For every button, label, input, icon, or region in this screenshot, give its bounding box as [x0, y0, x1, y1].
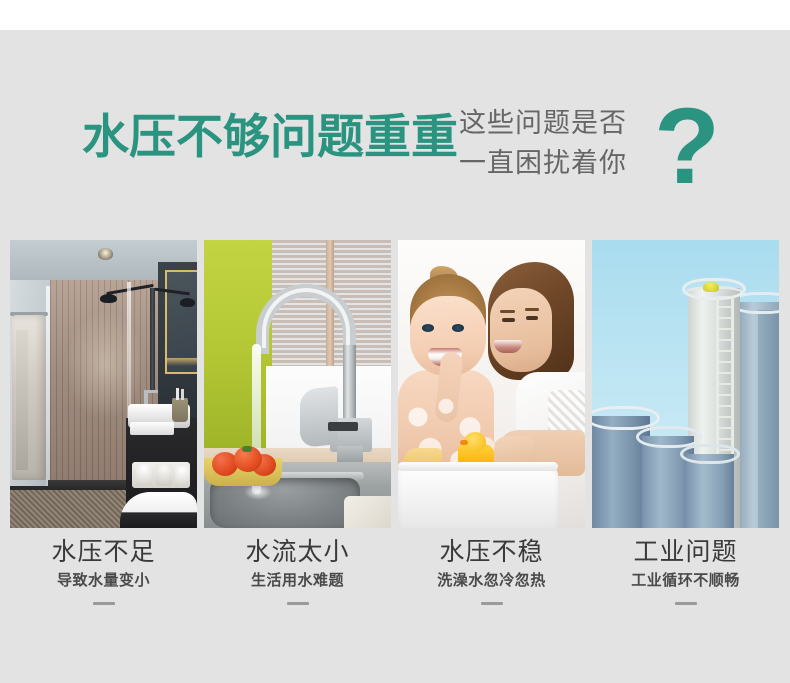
toothbrush-icon [176, 388, 179, 400]
panel-faucet-image[interactable] [204, 240, 391, 528]
caption-divider [93, 602, 115, 605]
safety-helmet-icon [703, 282, 719, 292]
folded-towel [130, 422, 174, 435]
caption-subtitle: 导致水量变小 [10, 569, 197, 593]
faucet-handle-accent [328, 422, 358, 431]
caption-divider [287, 602, 309, 605]
page-headline: 水压不够问题重重 [82, 113, 458, 160]
water-splash [244, 484, 272, 500]
towel-roll [136, 464, 152, 486]
faucet-base [337, 446, 363, 462]
storage-tank-right-edge [758, 310, 779, 528]
header-section: 水压不够问题重重 这些问题是否 一直困扰着你 ? [0, 95, 790, 210]
toothbrush-icon-2 [181, 389, 184, 400]
caption-block-faucet: 水流太小 生活用水难题 [204, 535, 391, 605]
storage-tank [686, 454, 734, 528]
ceiling-lamp-icon [98, 248, 113, 260]
caption-title: 水压不稳 [398, 535, 585, 569]
shower-glass-panel-left [46, 286, 50, 486]
caption-subtitle: 生活用水难题 [204, 569, 391, 593]
faucet-handle [300, 386, 338, 448]
bathtub-edge [120, 492, 197, 528]
mother-eyebrow [500, 310, 515, 313]
shower-head-secondary-icon [180, 298, 195, 307]
caption-divider [675, 602, 697, 605]
mirror-backlight [165, 358, 197, 366]
caption-block-industrial: 工业问题 工业循环不顺畅 [592, 535, 779, 605]
caption-block-baby-bath: 水压不稳 洗澡水忽冷忽热 [398, 535, 585, 605]
rubber-duck-beak [460, 440, 468, 445]
kitchen-faucet-scene [204, 240, 391, 528]
caption-title: 工业问题 [592, 535, 779, 569]
baby-eye [452, 324, 464, 332]
tank-railing [680, 444, 740, 464]
toothbrush-cup [172, 398, 188, 422]
mother-eyebrow [525, 308, 539, 311]
caption-subtitle: 工业循环不顺畅 [592, 569, 779, 593]
caption-block-bathroom: 水压不足 导致水量变小 [10, 535, 197, 605]
panel-industrial-image[interactable] [592, 240, 779, 528]
tomato-stem [242, 446, 252, 452]
baby-bath-scene [398, 240, 585, 528]
baby-eye [422, 324, 434, 332]
baby-bathtub [398, 462, 558, 528]
hanging-towel-secondary [16, 330, 28, 470]
bathroom-scene [10, 240, 197, 528]
kitchen-cloth [344, 496, 391, 528]
mother-face [490, 288, 552, 372]
caption-title: 水流太小 [204, 535, 391, 569]
industrial-tanks-scene [592, 240, 779, 528]
basin-tap-spout [144, 390, 158, 393]
mother-eye [502, 318, 515, 322]
shower-head-icon [100, 294, 117, 303]
subtext-line-2: 一直困扰着你 [459, 143, 659, 183]
shower-riser-pipe [150, 288, 155, 393]
promo-page: 水压不够问题重重 这些问题是否 一直困扰着你 ? [0, 0, 790, 683]
image-panel-row [0, 240, 790, 528]
question-mark-icon: ? [654, 92, 720, 200]
towel-roll [156, 464, 172, 486]
mother-eye [526, 316, 538, 320]
panel-bathroom-image[interactable] [10, 240, 197, 528]
panel-baby-bath-image[interactable] [398, 240, 585, 528]
towel-roll [175, 466, 189, 486]
caption-divider [481, 602, 503, 605]
header-subtext: 这些问题是否 一直困扰着你 [459, 103, 659, 183]
caption-title: 水压不足 [10, 535, 197, 569]
caption-subtitle: 洗澡水忽冷忽热 [398, 569, 585, 593]
baby-bathtub-rim [398, 462, 558, 471]
bathroom-floor-mosaic [10, 490, 130, 528]
caption-row: 水压不足 导致水量变小 水流太小 生活用水难题 水压不稳 洗澡水忽冷忽热 工业问… [0, 535, 790, 615]
subtext-line-1: 这些问题是否 [459, 103, 659, 143]
